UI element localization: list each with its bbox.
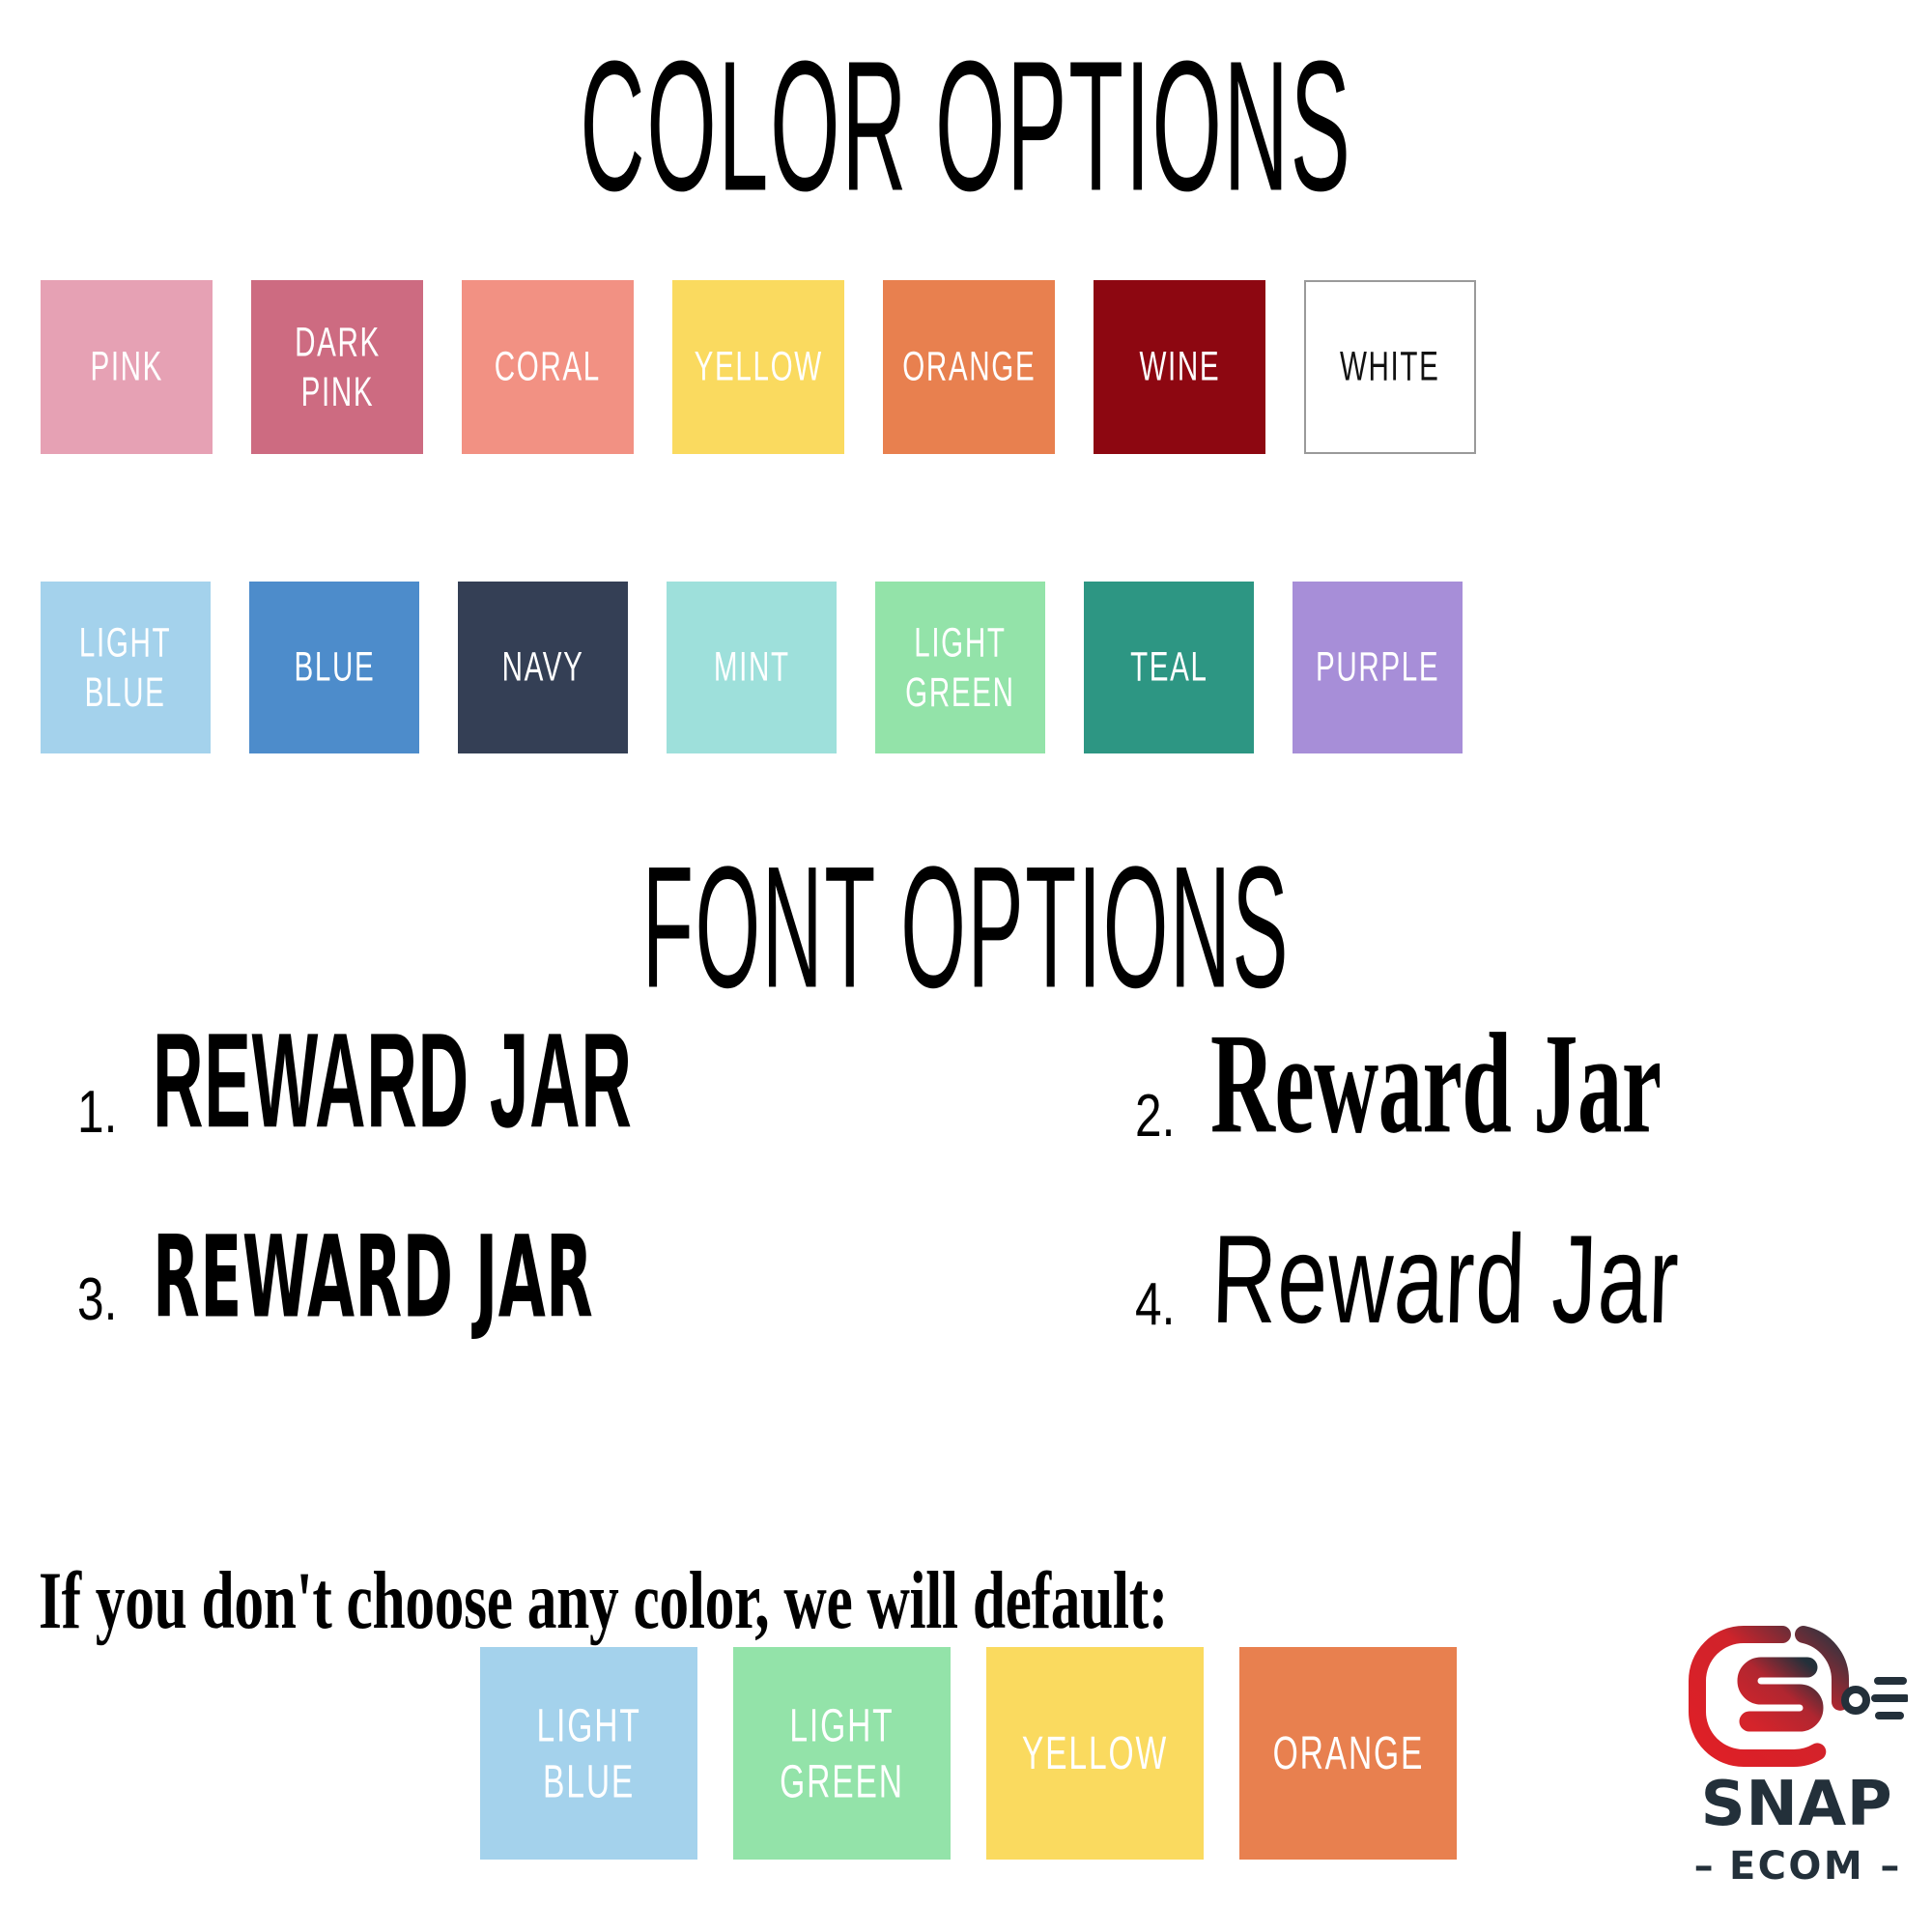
default-swatch-light-blue[interactable]: LIGHT BLUE bbox=[480, 1647, 697, 1860]
color-swatch-label: NAVY bbox=[502, 642, 584, 692]
default-swatch-yellow[interactable]: YELLOW bbox=[986, 1647, 1204, 1860]
color-swatch-light-blue[interactable]: LIGHT BLUE bbox=[41, 582, 211, 753]
font-option-2-number: 2. bbox=[1135, 1082, 1175, 1151]
font-option-4[interactable]: 4. Reward Jar bbox=[1135, 1230, 1794, 1342]
color-swatch-mint[interactable]: MINT bbox=[667, 582, 837, 753]
font-option-1-sample: REWARD JAR bbox=[153, 1014, 633, 1149]
color-swatch-navy[interactable]: NAVY bbox=[458, 582, 628, 753]
font-option-1-number: 1. bbox=[77, 1078, 117, 1147]
brand-logo: SNAP – ECOM – bbox=[1686, 1623, 1908, 1913]
color-swatch-dark-pink[interactable]: DARK PINK bbox=[251, 280, 423, 454]
default-swatch-label: YELLOW bbox=[1022, 1725, 1168, 1781]
color-swatch-coral[interactable]: CORAL bbox=[462, 280, 634, 454]
color-swatch-label: MINT bbox=[714, 642, 790, 692]
default-swatch-row: LIGHT BLUELIGHT GREENYELLOWORANGE bbox=[480, 1647, 1492, 1860]
default-swatch-label: LIGHT GREEN bbox=[780, 1697, 904, 1810]
page-title-color-options: COLOR OPTIONS bbox=[367, 33, 1565, 218]
font-option-2-sample: Reward Jar bbox=[1210, 1012, 1662, 1156]
default-swatch-light-green[interactable]: LIGHT GREEN bbox=[733, 1647, 951, 1860]
color-swatch-teal[interactable]: TEAL bbox=[1084, 582, 1254, 753]
font-option-3-sample: REWARD JAR bbox=[153, 1221, 593, 1334]
color-swatch-wine[interactable]: WINE bbox=[1094, 280, 1265, 454]
default-swatch-label: ORANGE bbox=[1272, 1725, 1424, 1781]
color-swatch-label: PINK bbox=[90, 342, 163, 391]
logo-wordmark-snap: SNAP bbox=[1686, 1774, 1908, 1835]
color-swatch-yellow[interactable]: YELLOW bbox=[672, 280, 844, 454]
color-swatch-label: BLUE bbox=[294, 642, 375, 692]
color-swatch-purple[interactable]: PURPLE bbox=[1293, 582, 1463, 753]
color-swatch-label: YELLOW bbox=[694, 342, 822, 391]
snap-logo-icon bbox=[1686, 1623, 1908, 1768]
color-swatch-label: WINE bbox=[1139, 342, 1220, 391]
color-swatch-label: WHITE bbox=[1340, 342, 1440, 391]
font-option-4-sample: Reward Jar bbox=[1210, 1216, 1681, 1342]
color-swatch-light-green[interactable]: LIGHT GREEN bbox=[875, 582, 1045, 753]
default-color-note: If you don't choose any color, we will d… bbox=[39, 1555, 1168, 1649]
font-option-2[interactable]: 2. Reward Jar bbox=[1135, 1038, 1804, 1156]
font-option-1[interactable]: 1. REWARD JAR bbox=[77, 1048, 838, 1149]
color-swatch-label: PURPLE bbox=[1316, 642, 1439, 692]
page-title-font-options: FONT OPTIONS bbox=[367, 840, 1565, 1013]
logo-wordmark-ecom: – ECOM – bbox=[1686, 1847, 1908, 1886]
logo-dash-right: – bbox=[1880, 1844, 1899, 1889]
color-swatch-label: CORAL bbox=[495, 342, 601, 391]
color-swatch-label: LIGHT GREEN bbox=[905, 618, 1014, 718]
color-swatch-label: LIGHT BLUE bbox=[79, 618, 171, 718]
color-swatch-label: DARK PINK bbox=[295, 318, 381, 417]
color-swatch-pink[interactable]: PINK bbox=[41, 280, 213, 454]
default-swatch-orange[interactable]: ORANGE bbox=[1239, 1647, 1457, 1860]
color-swatch-row-cool: LIGHT BLUEBLUENAVYMINTLIGHT GREENTEALPUR… bbox=[41, 582, 1501, 753]
color-swatch-blue[interactable]: BLUE bbox=[249, 582, 419, 753]
font-option-3-number: 3. bbox=[77, 1265, 117, 1334]
color-swatch-label: ORANGE bbox=[902, 342, 1036, 391]
color-swatch-orange[interactable]: ORANGE bbox=[883, 280, 1055, 454]
font-option-4-number: 4. bbox=[1135, 1270, 1175, 1339]
font-option-3[interactable]: 3. REWARD JAR bbox=[77, 1241, 820, 1334]
color-swatch-label: TEAL bbox=[1130, 642, 1208, 692]
default-swatch-label: LIGHT BLUE bbox=[536, 1697, 640, 1810]
font-options-grid: 1. REWARD JAR 2. Reward Jar 3. REWARD JA… bbox=[0, 1038, 1932, 1425]
color-swatch-white[interactable]: WHITE bbox=[1304, 280, 1476, 454]
logo-ecom-text: ECOM bbox=[1729, 1844, 1864, 1889]
logo-dash-left: – bbox=[1694, 1844, 1714, 1889]
color-swatch-row-warm: PINKDARK PINKCORALYELLOWORANGEWINEWHITE bbox=[41, 280, 1515, 454]
